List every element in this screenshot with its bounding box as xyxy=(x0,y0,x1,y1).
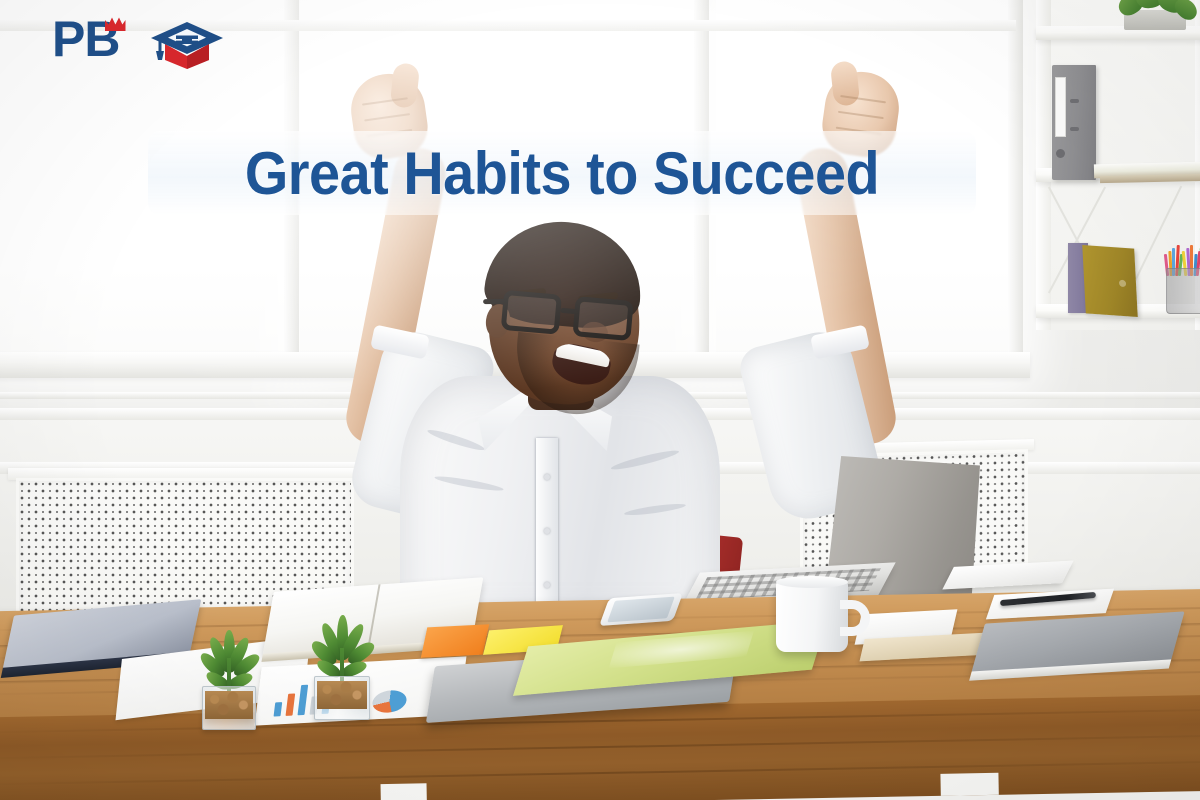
wood-grain xyxy=(0,734,1200,760)
photo-scene xyxy=(0,0,1200,800)
shirt-fold xyxy=(610,448,680,473)
binder-ring xyxy=(1070,127,1079,131)
binder-label xyxy=(1055,77,1066,137)
thumb xyxy=(830,60,860,106)
glass-pot xyxy=(202,686,256,730)
gray-binder xyxy=(1052,65,1096,180)
desk-plant-left xyxy=(202,634,256,730)
chart-pie xyxy=(371,690,408,714)
chart-bar xyxy=(286,693,296,716)
knuckle-line xyxy=(364,113,410,121)
desk-leg-gap xyxy=(940,773,998,796)
pot-gravel xyxy=(317,681,367,709)
shirt-placket xyxy=(536,438,558,626)
eyeglass-lens-right xyxy=(572,296,633,341)
olive-book xyxy=(1082,245,1137,317)
book-emblem xyxy=(1119,280,1126,288)
mug-rim xyxy=(776,576,848,588)
thumb xyxy=(390,62,420,108)
crown-icon xyxy=(104,15,126,33)
pot-gravel xyxy=(205,691,253,719)
wood-grain xyxy=(0,760,1200,786)
phone-screen xyxy=(607,597,675,623)
window-mullion xyxy=(1008,0,1023,372)
shirt-button xyxy=(544,582,550,588)
potted-plant-on-shelf xyxy=(1110,0,1200,26)
orange-sticky-note xyxy=(421,624,489,658)
shelf-post xyxy=(1036,0,1051,330)
shirt-fold xyxy=(426,427,486,453)
eyeglass-lens-left xyxy=(501,290,562,335)
desk-leg-gap xyxy=(381,783,427,800)
shirt-fold xyxy=(434,474,504,493)
binder-ring xyxy=(1070,99,1079,103)
shirt-button xyxy=(544,528,550,534)
eyeglass-bridge xyxy=(560,308,578,315)
page-title: Great Habits to Succeed xyxy=(177,131,947,215)
shirt-fold xyxy=(624,502,686,518)
glass-pot xyxy=(314,676,370,720)
shirt-button xyxy=(544,474,550,480)
binder-finger-hole xyxy=(1056,149,1065,158)
brand-logo[interactable]: PB xyxy=(52,14,232,72)
eyeglass-temple xyxy=(483,299,505,304)
chart-bar xyxy=(274,702,283,716)
graduation-cap-icon xyxy=(148,18,226,70)
white-coffee-mug xyxy=(776,580,848,652)
pencil-cup xyxy=(1166,268,1200,314)
banner-image: PB Great Habits to Succeed xyxy=(0,0,1200,800)
desk-plant-right xyxy=(314,620,370,720)
knuckle-line xyxy=(838,111,884,119)
chart-bar xyxy=(297,685,308,716)
